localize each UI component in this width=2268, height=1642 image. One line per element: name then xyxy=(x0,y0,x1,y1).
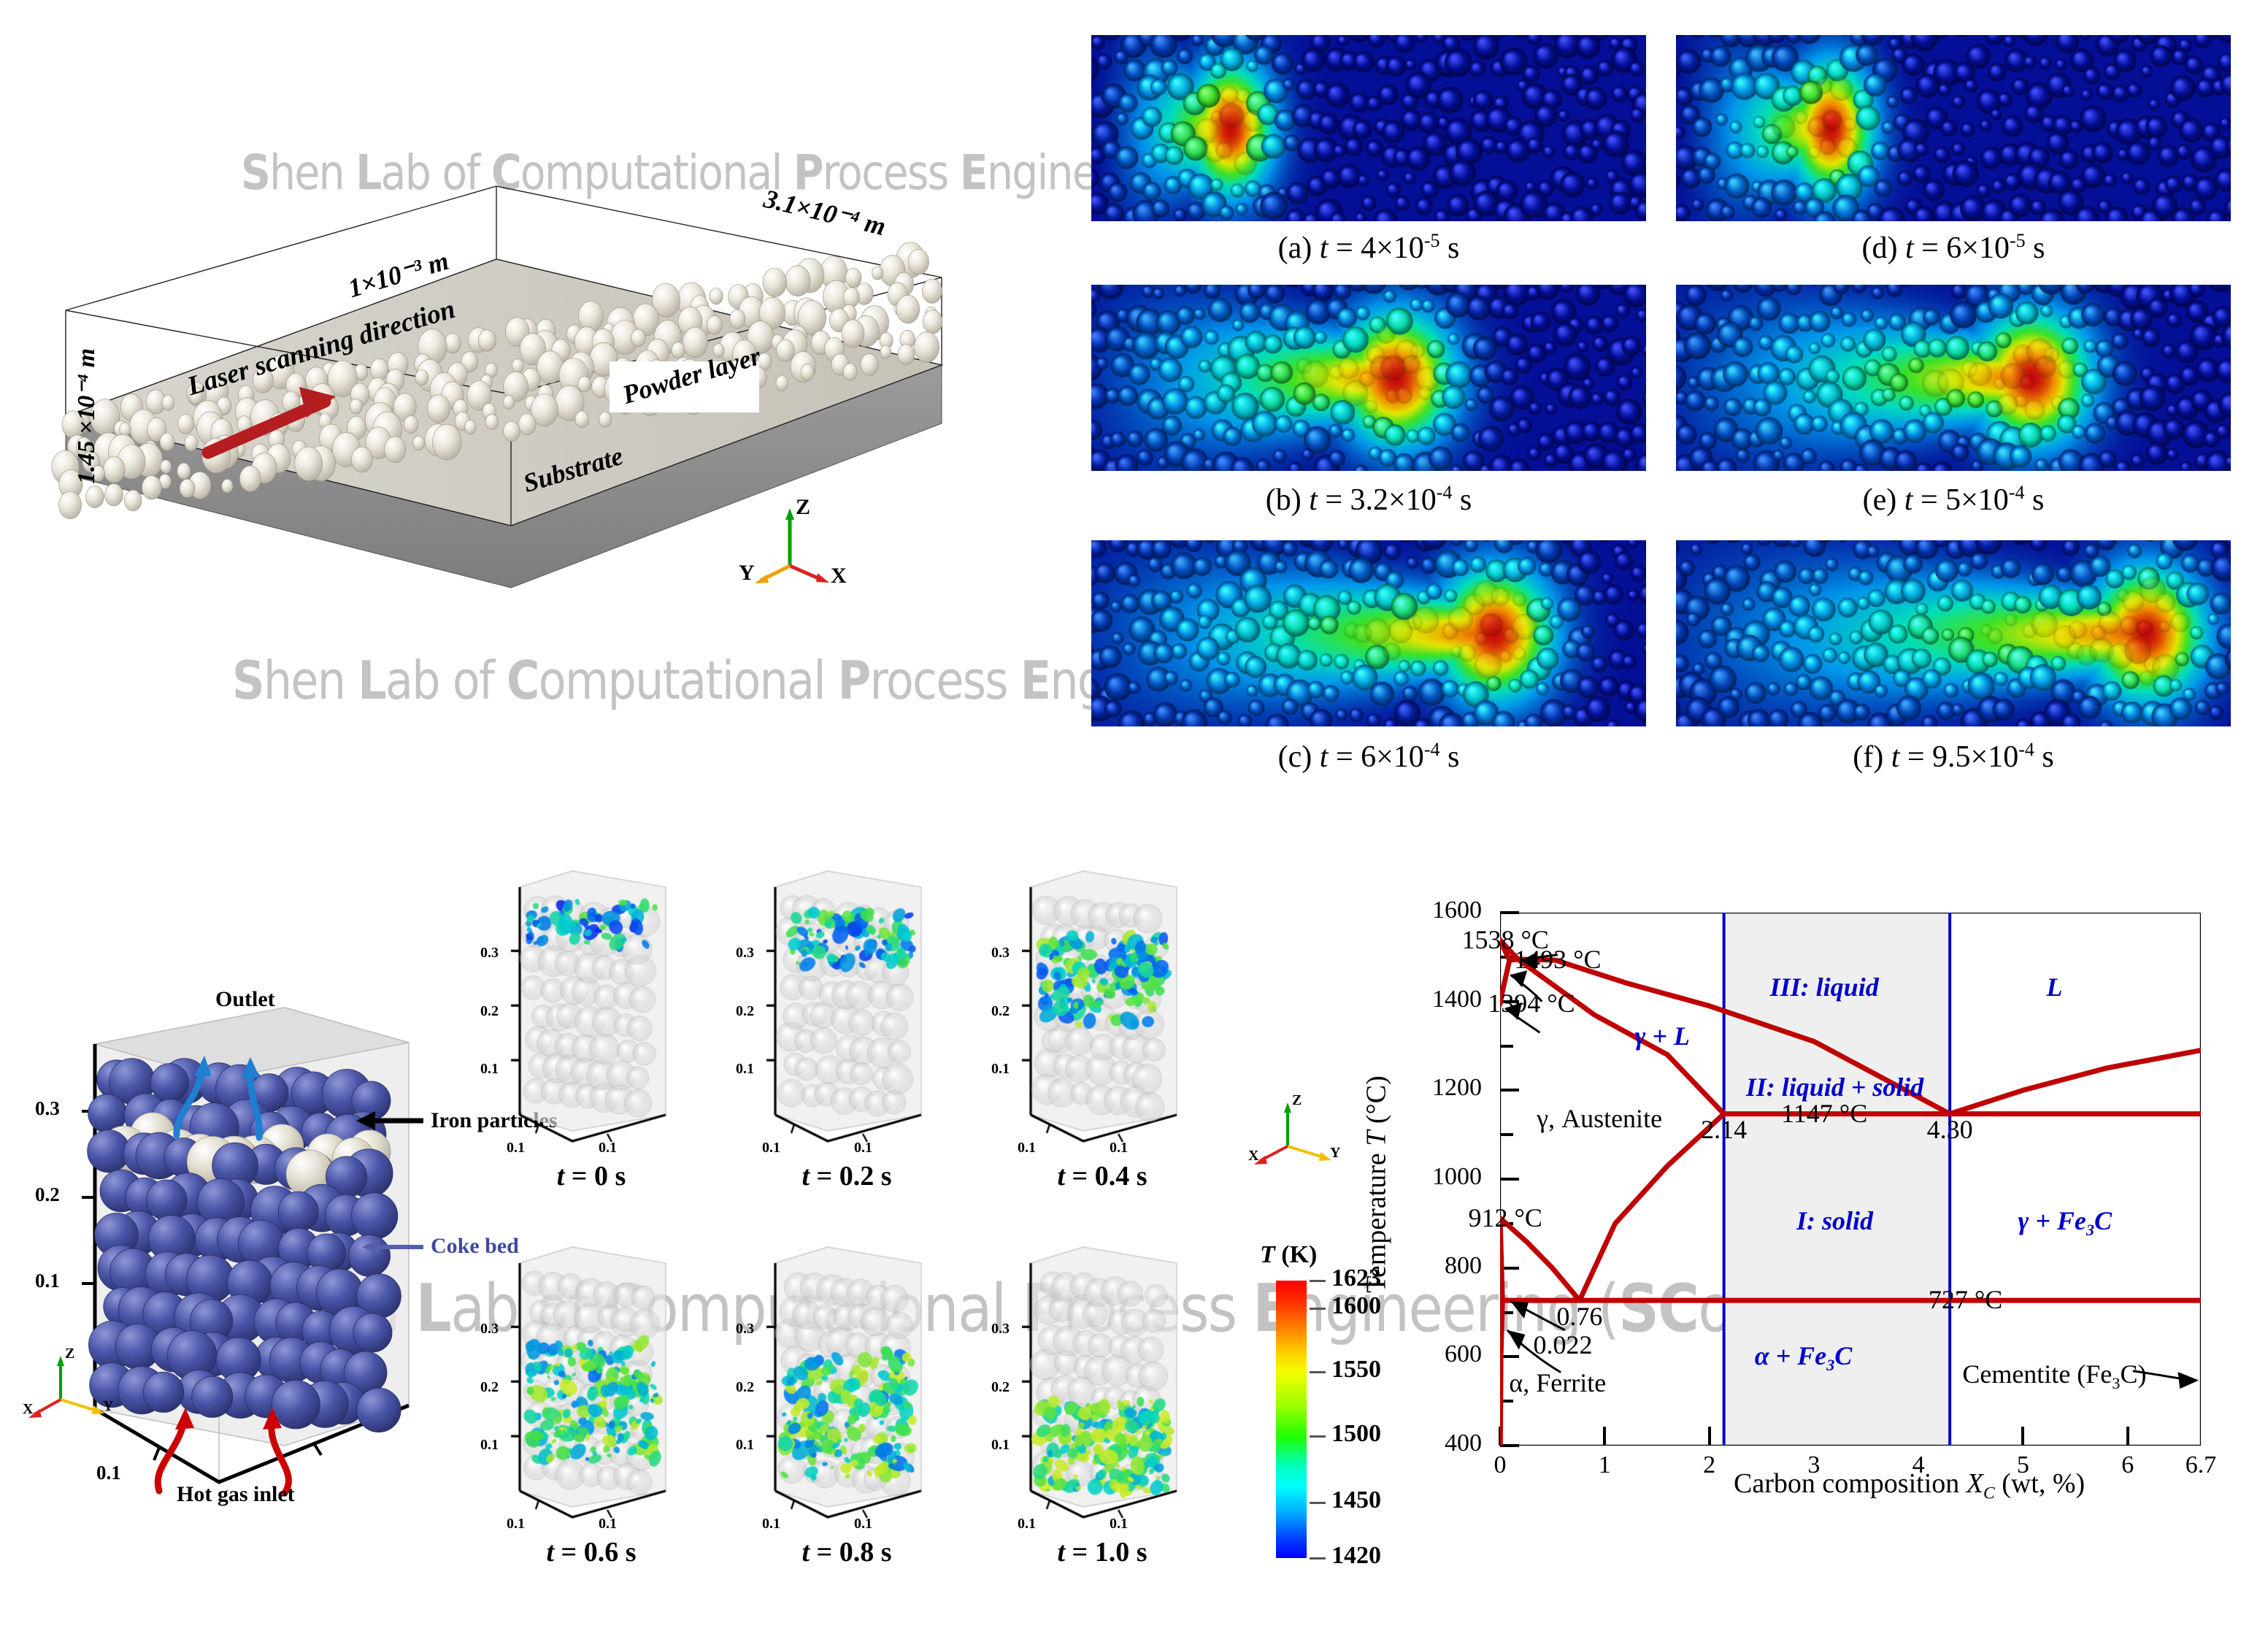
phase-diagram-ytick-label: 800 xyxy=(1391,1252,1482,1280)
bed-frame-xtick: 0.1 xyxy=(507,1140,525,1156)
bed-frame-ztick: 0.1 xyxy=(480,1437,499,1454)
phase-diagram-ytick-label: 1400 xyxy=(1391,986,1482,1013)
phase-annotation-label: 1147 °C xyxy=(1781,1098,1867,1129)
melt-pool-canvas xyxy=(1091,540,1646,726)
bed-frame-ztick: 0.2 xyxy=(736,1003,754,1020)
bed-frame-panel: 0.30.20.10.10.1t = 0.2 s xyxy=(737,858,956,1245)
bed-frame-xtick: 0.1 xyxy=(1018,1140,1036,1156)
phase-annotation-label: 1394 °C xyxy=(1488,988,1575,1018)
phase-diagram-ytick-label: 1000 xyxy=(1391,1163,1482,1191)
colorbar-tick xyxy=(1310,1502,1326,1504)
phase-annotation-label: 727 °C xyxy=(1929,1284,2002,1315)
melt-pool-caption-d: (d) t = 6×10-5 s xyxy=(1676,230,2231,266)
phase-region-label: γ, Austenite xyxy=(1537,1103,1662,1134)
bed-axis-tick-0.2: 0.2 xyxy=(35,1183,60,1206)
bed-frame-caption: t = 0.4 s xyxy=(993,1160,1212,1192)
bed-label-outlet: Outlet xyxy=(215,987,275,1012)
colorbar-tick-label: 1500 xyxy=(1331,1420,1381,1448)
melt-pool-caption-a: (a) t = 4×10-5 s xyxy=(1091,230,1646,266)
bed-frame-ztick: 0.2 xyxy=(480,1003,499,1020)
bed-frame-ztick: 0.2 xyxy=(991,1379,1010,1396)
phase-annotation-label: 2.14 xyxy=(1701,1114,1747,1145)
phase-annotation-label: 0.022 xyxy=(1533,1330,1592,1360)
colorbar-tick-label: 1550 xyxy=(1331,1356,1381,1384)
bedgrid-triad-z-label: Z xyxy=(1292,1092,1302,1109)
bed-frame-canvas xyxy=(737,858,956,1179)
bed-frame-ztick: 0.1 xyxy=(991,1437,1010,1454)
bed-frame-ztick: 0.3 xyxy=(480,1321,499,1338)
colorbar-tick xyxy=(1310,1280,1326,1282)
phase-annotation-label: Cementite (Fe3C) xyxy=(1962,1359,2146,1393)
bed-frame-ztick: 0.2 xyxy=(736,1379,754,1396)
bed-frame-panel: 0.30.20.10.10.1t = 0.6 s xyxy=(482,1234,701,1621)
phase-annotation-label: 912 °C xyxy=(1468,1202,1542,1233)
axis-triad-schematic: Z X Y xyxy=(745,496,854,588)
colorbar-tick xyxy=(1310,1435,1326,1438)
bed-frame-xtick: 0.1 xyxy=(1110,1516,1128,1532)
melt-pool-caption-e: (e) t = 5×10-4 s xyxy=(1676,482,2231,518)
phase-region-label: L xyxy=(2046,972,2062,1002)
bed-frame-ztick: 0.3 xyxy=(480,945,499,962)
melt-pool-panel-d xyxy=(1676,35,2231,221)
bed-axis-tick-0.3: 0.3 xyxy=(35,1097,60,1120)
colorbar-tick-label: 1420 xyxy=(1331,1542,1381,1570)
bed-frame-canvas xyxy=(482,1234,701,1555)
bed-triad-y-label: Y xyxy=(103,1398,113,1415)
phase-diagram-ytick-label: 1200 xyxy=(1391,1074,1482,1102)
bed-frame-ztick: 0.3 xyxy=(991,1321,1010,1338)
bed-frame-caption: t = 0.8 s xyxy=(737,1536,956,1568)
bedgrid-triad-y-label: Y xyxy=(1330,1145,1340,1162)
phase-region-label: III: liquid xyxy=(1770,972,1879,1002)
melt-pool-panel-e xyxy=(1676,285,2231,471)
bed-frame-xtick: 0.1 xyxy=(507,1516,525,1532)
axis-triad-bed: Z Y X xyxy=(26,1347,113,1431)
phase-diagram-ytick-label: 600 xyxy=(1391,1340,1482,1368)
phase-diagram-xtick-label: 2 xyxy=(1666,1451,1753,1479)
melt-pool-caption-f: (f) t = 9.5×10-4 s xyxy=(1676,739,2231,775)
bed-frame-panel: 0.30.20.10.10.1t = 1.0 s xyxy=(993,1234,1212,1621)
bed-frame-ztick: 0.1 xyxy=(480,1061,499,1078)
colorbar-title: T (K) xyxy=(1260,1241,1317,1269)
phase-diagram-xtick-label: 5 xyxy=(1979,1451,2067,1479)
bed-frame-xtick: 0.1 xyxy=(762,1140,780,1156)
phase-diagram-xtick-label: 0 xyxy=(1456,1451,1544,1479)
phase-region-label: I: solid xyxy=(1796,1205,1873,1236)
melt-pool-caption-b: (b) t = 3.2×10-4 s xyxy=(1091,482,1646,518)
bed-triad-z-label: Z xyxy=(65,1346,74,1362)
melt-pool-canvas xyxy=(1676,540,2231,726)
bed-frame-ztick: 0.1 xyxy=(736,1061,754,1078)
bed-frame-canvas xyxy=(993,1234,1212,1555)
bed-frame-panel: 0.30.20.10.10.1t = 0.8 s xyxy=(737,1234,956,1621)
bed-frame-ztick: 0.3 xyxy=(736,1321,754,1338)
phase-annotation-label: 4.30 xyxy=(1927,1114,1973,1145)
schematic-axis-x-label: X xyxy=(831,564,847,588)
melt-pool-canvas xyxy=(1676,35,2231,221)
melt-pool-panel-f xyxy=(1676,540,2231,726)
bed-frame-panel: 0.30.20.10.10.1t = 0.4 s xyxy=(993,858,1212,1245)
bed-frame-canvas xyxy=(993,858,1212,1179)
phase-region-label: α + Fe3C xyxy=(1755,1340,1853,1375)
bed-frame-xtick: 0.1 xyxy=(854,1140,872,1156)
schematic-label-height: 1.45 ×10⁻⁴ m xyxy=(72,348,101,484)
melt-pool-caption-c: (c) t = 6×10-4 s xyxy=(1091,739,1646,775)
bed-frame-caption: t = 1.0 s xyxy=(993,1536,1212,1568)
phase-diagram-xtick-label: 6.7 xyxy=(2157,1451,2245,1479)
powder-bed-schematic: 1×10⁻³ m 3.1×10⁻⁴ m 1.45 ×10⁻⁴ m Laser s… xyxy=(44,183,993,606)
phase-annotation-label: 0.76 xyxy=(1556,1301,1602,1332)
bed-frame-ztick: 0.3 xyxy=(991,945,1010,962)
bed-frame-caption: t = 0.2 s xyxy=(737,1160,956,1192)
schematic-axis-z-label: Z xyxy=(796,495,810,520)
melt-pool-canvas xyxy=(1091,285,1646,471)
bed-frame-canvas xyxy=(737,1234,956,1555)
phase-annotation-label: 1493 °C xyxy=(1514,944,1601,975)
bed-frame-xtick: 0.1 xyxy=(854,1516,872,1532)
bed-frame-xtick: 0.1 xyxy=(599,1516,617,1532)
bed-frame-ztick: 0.1 xyxy=(736,1437,754,1454)
bed-frame-caption: t = 0 s xyxy=(482,1160,701,1192)
melt-pool-panel-c xyxy=(1091,540,1646,726)
colorbar-gradient xyxy=(1276,1281,1307,1558)
phase-diagram-xtick-label: 1 xyxy=(1561,1451,1648,1479)
phase-region-label: α, Ferrite xyxy=(1509,1367,1606,1398)
phase-diagram-ylabel: Temperature T (°C) xyxy=(1361,1075,1393,1292)
bed-frame-xtick: 0.1 xyxy=(762,1516,780,1532)
phase-region-label: γ + L xyxy=(1634,1021,1689,1051)
bed-triad-x-label: X xyxy=(23,1401,33,1418)
melt-pool-panel-b xyxy=(1091,285,1646,471)
phase-region-label: γ + Fe3C xyxy=(2018,1205,2112,1240)
schematic-axis-y-label: Y xyxy=(739,561,755,586)
bed-frame-caption: t = 0.6 s xyxy=(482,1536,701,1568)
phase-diagram-xtick-label: 3 xyxy=(1770,1451,1858,1479)
fluidised-bed-schematic: Outlet Iron particles Coke bed Hot gas i… xyxy=(66,1000,518,1497)
colorbar-tick-label: 1600 xyxy=(1331,1292,1381,1320)
bed-frame-ztick: 0.3 xyxy=(736,945,754,962)
bed-label-hot-gas-inlet: Hot gas inlet xyxy=(177,1482,295,1507)
colorbar-tick xyxy=(1310,1557,1326,1559)
bed-frame-canvas xyxy=(482,858,701,1179)
bed-frame-ztick: 0.2 xyxy=(480,1379,499,1396)
colorbar-tick xyxy=(1310,1371,1326,1373)
melt-pool-canvas xyxy=(1091,35,1646,221)
bedgrid-triad-x-label: X xyxy=(1248,1148,1258,1165)
bed-frame-xtick: 0.1 xyxy=(1110,1140,1128,1156)
phase-diagram-xtick-label: 4 xyxy=(1875,1451,1962,1479)
bed-frame-xtick: 0.1 xyxy=(1018,1516,1036,1532)
axis-triad-bedgrid: Z Y X xyxy=(1250,1095,1337,1179)
bed-frame-ztick: 0.2 xyxy=(991,1003,1010,1020)
melt-pool-panel-a xyxy=(1091,35,1646,221)
fe-c-phase-diagram: Temperature T (°C) Carbon composition XC… xyxy=(1391,905,2226,1497)
bed-frame-xtick: 0.1 xyxy=(599,1140,617,1156)
melt-pool-canvas xyxy=(1676,285,2231,471)
colorbar-tick-label: 1450 xyxy=(1331,1486,1381,1514)
phase-diagram-ytick-label: 1600 xyxy=(1391,897,1482,924)
bed-axis-tick-0.1: 0.1 xyxy=(35,1270,60,1292)
bed-axis-tick-x: 0.1 xyxy=(96,1462,121,1484)
bed-frame-ztick: 0.1 xyxy=(991,1061,1010,1078)
bed-frame-panel: 0.30.20.10.10.1t = 0 s xyxy=(482,858,701,1245)
colorbar-tick xyxy=(1310,1308,1326,1310)
